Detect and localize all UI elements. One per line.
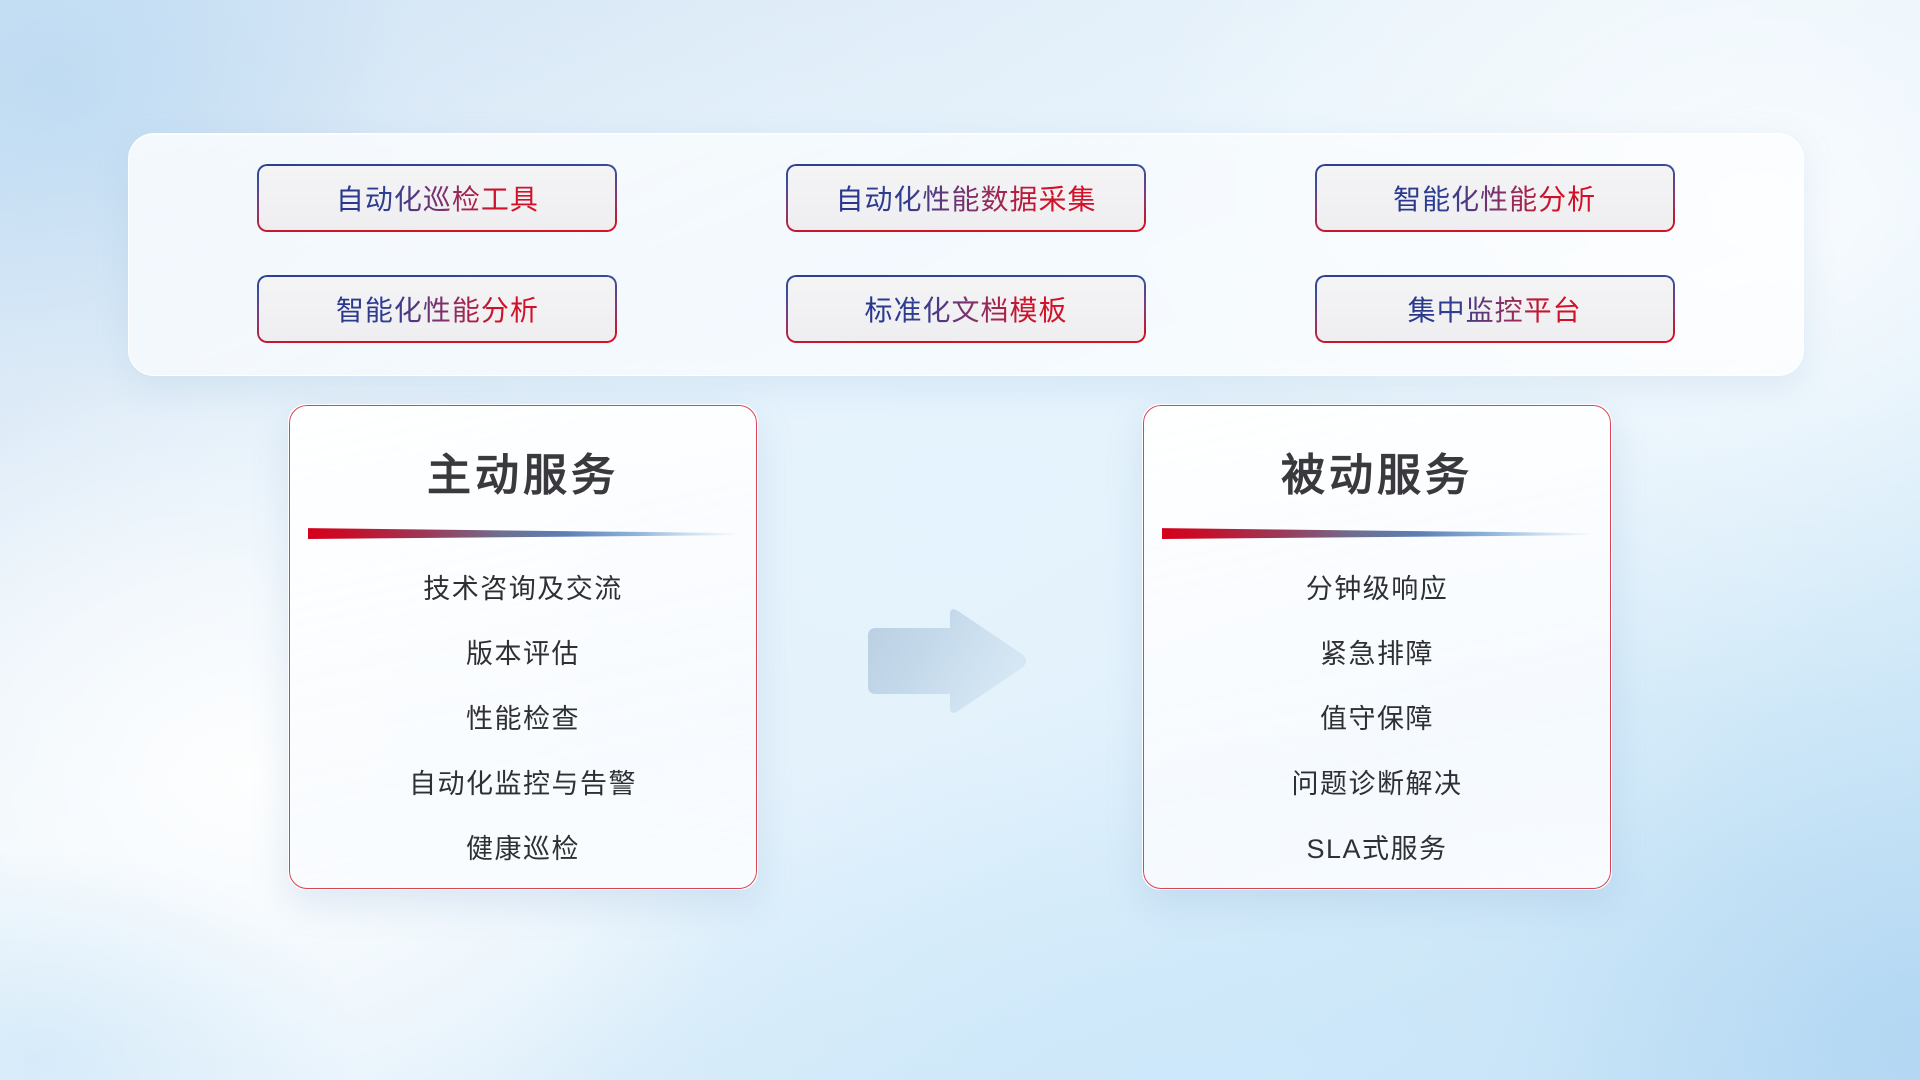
- capability-tag-label: 自动化巡检工具: [336, 178, 539, 218]
- service-list-item: 问题诊断解决: [1292, 762, 1463, 801]
- service-list-item: 健康巡检: [466, 827, 580, 866]
- service-list-item: 值守保障: [1320, 697, 1434, 736]
- service-item-list: 技术咨询及交流 版本评估 性能检查 自动化监控与告警 健康巡检: [289, 567, 757, 866]
- capability-tag[interactable]: 自动化巡检工具: [257, 164, 617, 232]
- service-list-item: 自动化监控与告警: [409, 762, 637, 801]
- capability-tag[interactable]: 智能化性能分析: [257, 275, 617, 343]
- service-list-item: 性能检查: [466, 697, 580, 736]
- capability-tag[interactable]: 自动化性能数据采集: [786, 164, 1146, 232]
- capability-tag-label: 智能化性能分析: [336, 289, 539, 329]
- service-card-title: 被动服务: [1143, 439, 1611, 503]
- service-list-item: 版本评估: [466, 632, 580, 671]
- service-list-item: 紧急排障: [1320, 632, 1434, 671]
- flow-arrow-right-icon: [862, 606, 1030, 718]
- service-list-item: 分钟级响应: [1306, 567, 1449, 606]
- service-card-passive: 被动服务 分钟级响应 紧急排障 值守保障 问题诊断解决 SLA式服务: [1142, 404, 1612, 890]
- capability-tag-label: 标准化文档模板: [864, 289, 1067, 329]
- infographic-canvas: 自动化巡检工具 自动化性能数据采集 智能化性能分析 智能化性能分析 标准化文档模…: [0, 0, 1920, 1080]
- service-item-list: 分钟级响应 紧急排障 值守保障 问题诊断解决 SLA式服务: [1143, 567, 1611, 866]
- service-card-active: 主动服务 技术咨询及交流 版本评估 性能检查 自动化监控与告警 健康巡检: [288, 404, 758, 890]
- capability-tag-label: 集中监控平台: [1408, 289, 1582, 329]
- service-list-item: SLA式服务: [1306, 827, 1447, 866]
- capability-tag[interactable]: 标准化文档模板: [786, 275, 1146, 343]
- service-list-item: 技术咨询及交流: [423, 567, 623, 606]
- capability-tag-label: 自动化性能数据采集: [835, 178, 1096, 218]
- capability-tag[interactable]: 集中监控平台: [1315, 275, 1675, 343]
- capability-tag-label: 智能化性能分析: [1393, 178, 1596, 218]
- capability-tag[interactable]: 智能化性能分析: [1315, 164, 1675, 232]
- title-divider: [308, 525, 738, 539]
- capability-tags-panel: 自动化巡检工具 自动化性能数据采集 智能化性能分析 智能化性能分析 标准化文档模…: [128, 133, 1804, 376]
- service-card-title: 主动服务: [289, 439, 757, 503]
- title-divider: [1162, 525, 1592, 539]
